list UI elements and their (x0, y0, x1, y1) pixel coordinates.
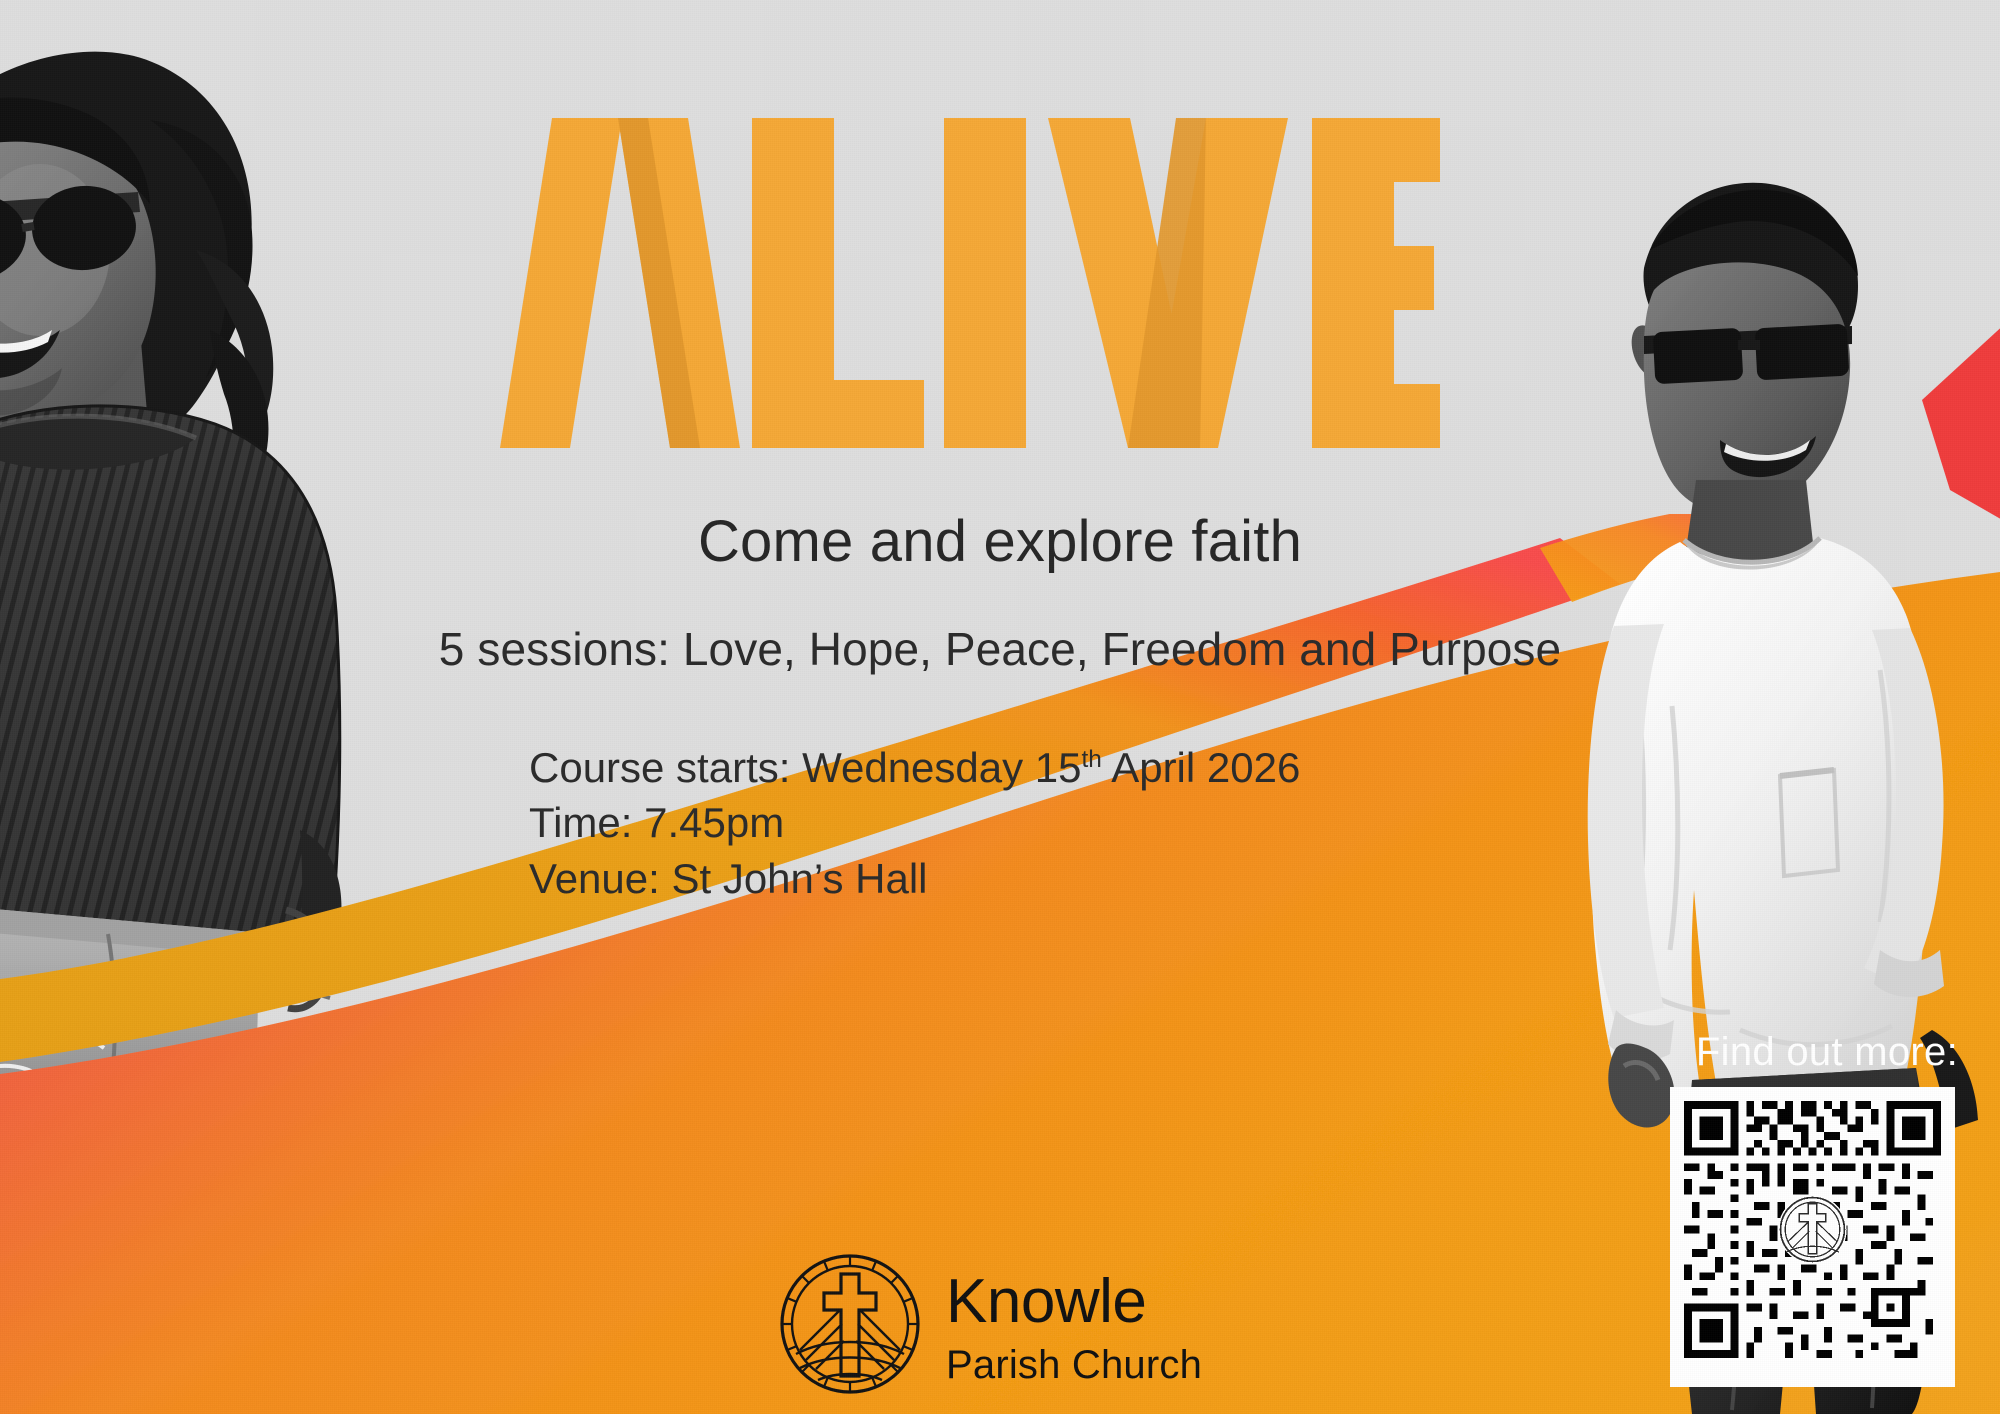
ordinal-suffix: th (1082, 746, 1102, 773)
course-details: Course starts: Wednesday 15th April 2026… (529, 740, 1300, 906)
qr-code[interactable] (1670, 1087, 1955, 1387)
course-starts-label: Course starts: (529, 744, 790, 791)
qr-center-logo-icon (1778, 1195, 1847, 1264)
course-start-line: Course starts: Wednesday 15th April 2026 (529, 740, 1300, 795)
alive-wordmark (500, 118, 1440, 448)
logo-name-line2: Parish Church (946, 1343, 1202, 1387)
qr-code-matrix[interactable] (1684, 1101, 1941, 1358)
time-line: Time: 7.45pm (529, 795, 1300, 850)
church-emblem-icon (782, 1256, 918, 1392)
sessions-text: 5 sessions: Love, Hope, Peace, Freedom a… (0, 622, 2000, 676)
church-logo: Knowle Parish Church (778, 1248, 1218, 1403)
course-starts-day: Wednesday 15 (802, 744, 1081, 791)
course-starts-rest: April 2026 (1102, 744, 1300, 791)
subtitle-text: Come and explore faith (0, 508, 2000, 575)
page-title (500, 118, 1440, 448)
find-out-more-label: Find out more: (1696, 1030, 1958, 1075)
poster-canvas: Come and explore faith 5 sessions: Love,… (0, 0, 2000, 1414)
venue-line: Venue: St John’s Hall (529, 851, 1300, 906)
logo-name-line1: Knowle (946, 1267, 1146, 1336)
